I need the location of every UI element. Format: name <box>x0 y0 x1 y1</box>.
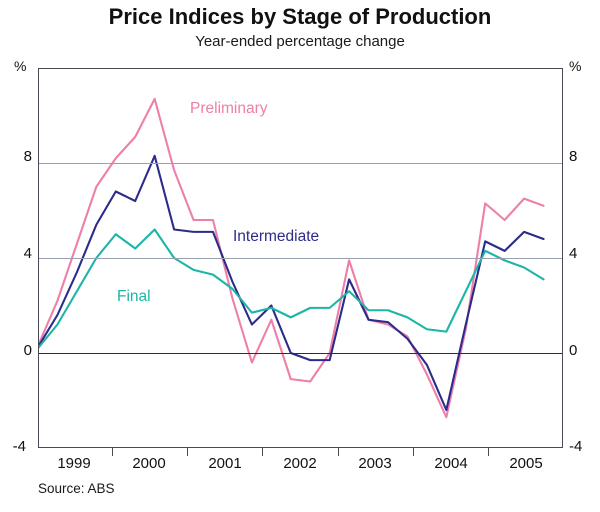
chart-container: Price Indices by Stage of Production Yea… <box>0 0 600 512</box>
y-axis-unit-right: % <box>569 58 581 74</box>
x-tick-label-2002: 2002 <box>265 455 335 472</box>
series-label-preliminary: Preliminary <box>190 100 268 118</box>
x-tick-2002-2003 <box>338 448 339 456</box>
x-tick-label-2004: 2004 <box>416 455 486 472</box>
y-tick-label-0-right: 0 <box>569 342 595 359</box>
x-tick-label-2003: 2003 <box>340 455 410 472</box>
x-tick-label-2005: 2005 <box>491 455 561 472</box>
x-tick-1999-2000 <box>112 448 113 456</box>
x-tick-2004-2005 <box>488 448 489 456</box>
gridline-4 <box>38 258 563 259</box>
series-line-intermediate <box>38 156 544 410</box>
chart-subtitle: Year-ended percentage change <box>0 33 600 50</box>
y-tick-label-0-left: 0 <box>6 342 32 359</box>
x-tick-2001-2002 <box>262 448 263 456</box>
y-tick-label-neg4-left: -4 <box>0 438 26 455</box>
y-tick-label-neg4-right: -4 <box>569 438 595 455</box>
zero-line <box>38 353 563 354</box>
y-tick-label-4-left: 4 <box>6 245 32 262</box>
series-label-intermediate: Intermediate <box>233 228 319 246</box>
x-tick-label-2001: 2001 <box>190 455 260 472</box>
x-tick-2003-2004 <box>413 448 414 456</box>
source-note: Source: ABS <box>38 481 115 496</box>
series-label-final: Final <box>117 288 151 306</box>
y-axis-unit-left: % <box>14 58 26 74</box>
x-tick-label-1999: 1999 <box>39 455 109 472</box>
gridline-8 <box>38 163 563 164</box>
y-tick-label-4-right: 4 <box>569 245 595 262</box>
y-tick-label-8-left: 8 <box>6 148 32 165</box>
plot-area <box>38 68 563 448</box>
series-line-final <box>38 230 544 349</box>
x-tick-2000-2001 <box>187 448 188 456</box>
y-tick-label-8-right: 8 <box>569 148 595 165</box>
x-tick-label-2000: 2000 <box>114 455 184 472</box>
chart-title: Price Indices by Stage of Production <box>0 4 600 30</box>
